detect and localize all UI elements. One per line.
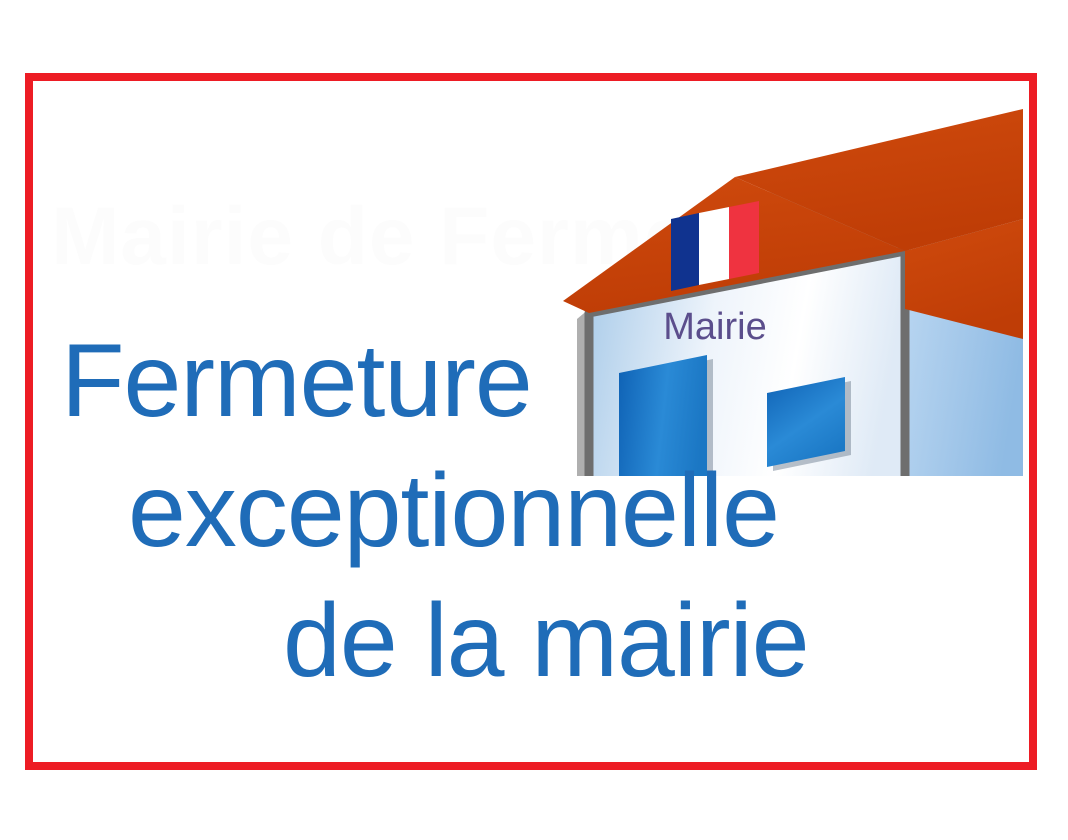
- notice-inner: Mairie de Fermeture: [33, 81, 1029, 762]
- poster-canvas: Mairie de Fermeture: [0, 0, 1068, 840]
- notice-frame: Mairie de Fermeture: [25, 73, 1037, 770]
- headline-line-3: de la mairie: [283, 589, 809, 693]
- house-door: [619, 355, 707, 476]
- headline-line-1: Fermeture: [61, 329, 532, 433]
- mairie-house-illustration: Mairie: [553, 101, 1023, 476]
- building-label: Mairie: [663, 306, 766, 348]
